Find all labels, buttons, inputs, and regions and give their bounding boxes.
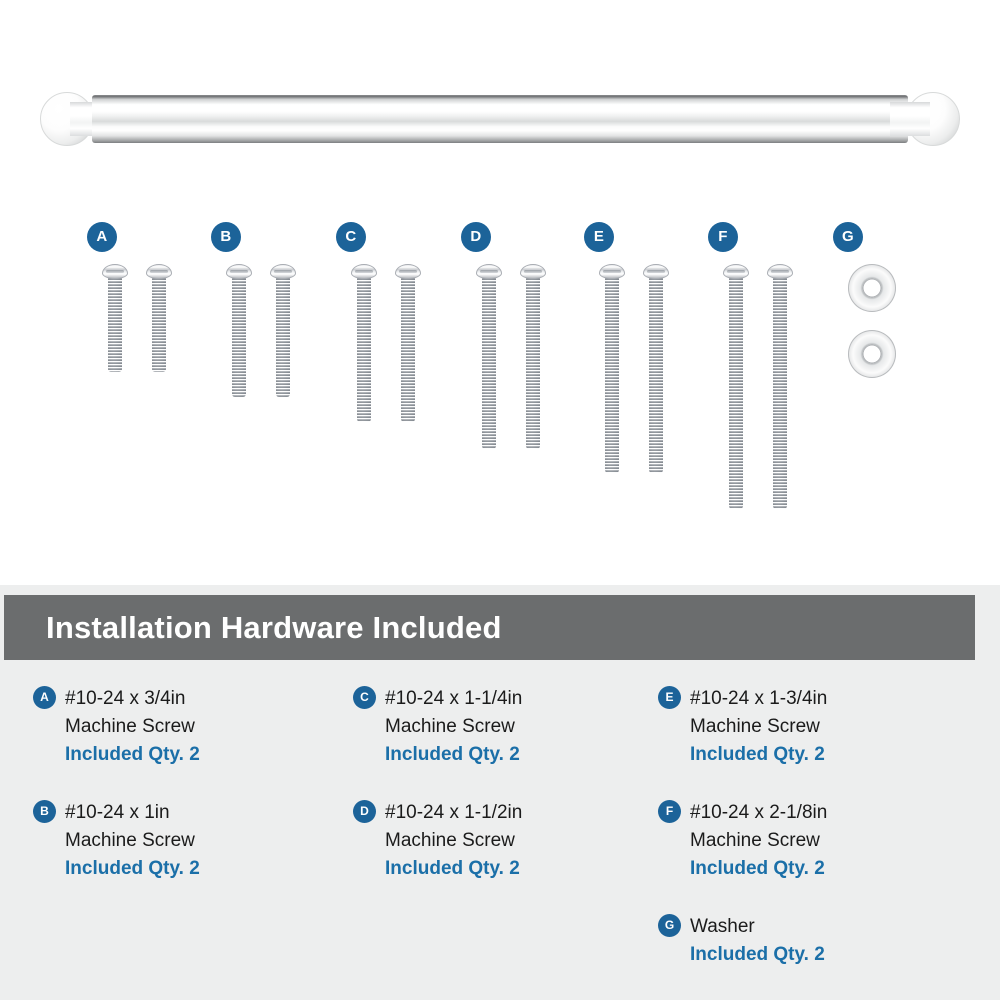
pull-bar-tube [92,95,908,143]
hardware-legend: A#10-24 x 3/4in Machine ScrewIncluded Qt… [0,685,1000,985]
legend-badge-g: G [658,914,681,937]
screw-threaded-shaft [605,277,619,473]
screw-threaded-shaft [401,277,415,422]
legend-item-quantity: Included Qty. 2 [65,855,343,883]
machine-screw-icon [520,264,546,449]
legend-item-name: #10-24 x 1-3/4in Machine Screw [690,685,968,741]
photo-badge-f: F [708,222,738,252]
legend-badge-a: A [33,686,56,709]
legend-item-quantity: Included Qty. 2 [690,741,968,769]
machine-screw-icon [102,264,128,372]
legend-item-quantity: Included Qty. 2 [690,855,968,883]
machine-screw-icon [351,264,377,422]
screw-threaded-shaft [482,277,496,449]
legend-badge-b: B [33,800,56,823]
legend-item-quantity: Included Qty. 2 [385,741,663,769]
product-photo-area: ABCDEFG [0,0,1000,585]
hardware-items-a [102,264,172,372]
screw-head [351,264,377,279]
legend-item-name: #10-24 x 2-1/8in Machine Screw [690,799,968,855]
screw-head [520,264,546,279]
machine-screw-icon [226,264,252,397]
legend-entry-d: D#10-24 x 1-1/2in Machine ScrewIncluded … [353,799,663,883]
legend-item-name: #10-24 x 1-1/2in Machine Screw [385,799,663,855]
hardware-items-f [723,264,793,509]
legend-item-quantity: Included Qty. 2 [65,741,343,769]
hardware-items-c [351,264,421,422]
legend-entry-c: C#10-24 x 1-1/4in Machine ScrewIncluded … [353,685,663,769]
legend-badge-e: E [658,686,681,709]
legend-column-2: C#10-24 x 1-1/4in Machine ScrewIncluded … [353,685,663,913]
screw-head [146,264,172,279]
legend-column-1: A#10-24 x 3/4in Machine ScrewIncluded Qt… [33,685,343,913]
cabinet-bar-pull-product [40,88,960,150]
screw-head [643,264,669,279]
legend-item-quantity: Included Qty. 2 [385,855,663,883]
machine-screw-icon [146,264,172,372]
hardware-items-g [848,264,896,378]
machine-screw-icon [476,264,502,449]
legend-item-name: Washer [690,913,968,941]
legend-entry-f: F#10-24 x 2-1/8in Machine ScrewIncluded … [658,799,968,883]
legend-entry-b: B#10-24 x 1in Machine ScrewIncluded Qty.… [33,799,343,883]
screw-head [270,264,296,279]
legend-badge-f: F [658,800,681,823]
right-cap-neck [890,102,930,136]
washer-stack [848,264,896,378]
panel-title: Installation Hardware Included [46,610,502,646]
screw-head [226,264,252,279]
screw-threaded-shaft [152,277,166,372]
screw-threaded-shaft [232,277,246,397]
legend-entry-e: E#10-24 x 1-3/4in Machine ScrewIncluded … [658,685,968,769]
screw-head [767,264,793,279]
installation-hardware-panel: Installation Hardware Included A#10-24 x… [0,585,1000,1000]
pull-right-end-cap [888,88,960,150]
photo-badge-c: C [336,222,366,252]
screw-threaded-shaft [526,277,540,449]
screw-threaded-shaft [357,277,371,422]
machine-screw-icon [767,264,793,509]
hardware-items-e [599,264,669,473]
legend-entry-g: GWasherIncluded Qty. 2 [658,913,968,969]
washer-icon [848,264,896,312]
legend-entry-a: A#10-24 x 3/4in Machine ScrewIncluded Qt… [33,685,343,769]
legend-item-name: #10-24 x 1in Machine Screw [65,799,343,855]
washer-icon [848,330,896,378]
screw-head [476,264,502,279]
panel-header-bar: Installation Hardware Included [4,595,975,660]
legend-item-quantity: Included Qty. 2 [690,941,968,969]
screw-head [723,264,749,279]
screw-head [395,264,421,279]
photo-badge-d: D [461,222,491,252]
photo-badge-e: E [584,222,614,252]
hardware-items-d [476,264,546,449]
legend-column-3: E#10-24 x 1-3/4in Machine ScrewIncluded … [658,685,968,999]
legend-item-name: #10-24 x 1-1/4in Machine Screw [385,685,663,741]
screw-threaded-shaft [773,277,787,509]
screw-threaded-shaft [276,277,290,397]
screw-threaded-shaft [729,277,743,509]
hardware-items-b [226,264,296,397]
photo-badge-b: B [211,222,241,252]
machine-screw-icon [643,264,669,473]
legend-item-name: #10-24 x 3/4in Machine Screw [65,685,343,741]
legend-badge-c: C [353,686,376,709]
machine-screw-icon [723,264,749,509]
screw-head [102,264,128,279]
screw-threaded-shaft [108,277,122,372]
legend-badge-d: D [353,800,376,823]
screw-head [599,264,625,279]
machine-screw-icon [395,264,421,422]
screw-threaded-shaft [649,277,663,473]
machine-screw-icon [599,264,625,473]
photo-badge-a: A [87,222,117,252]
photo-badge-g: G [833,222,863,252]
machine-screw-icon [270,264,296,397]
